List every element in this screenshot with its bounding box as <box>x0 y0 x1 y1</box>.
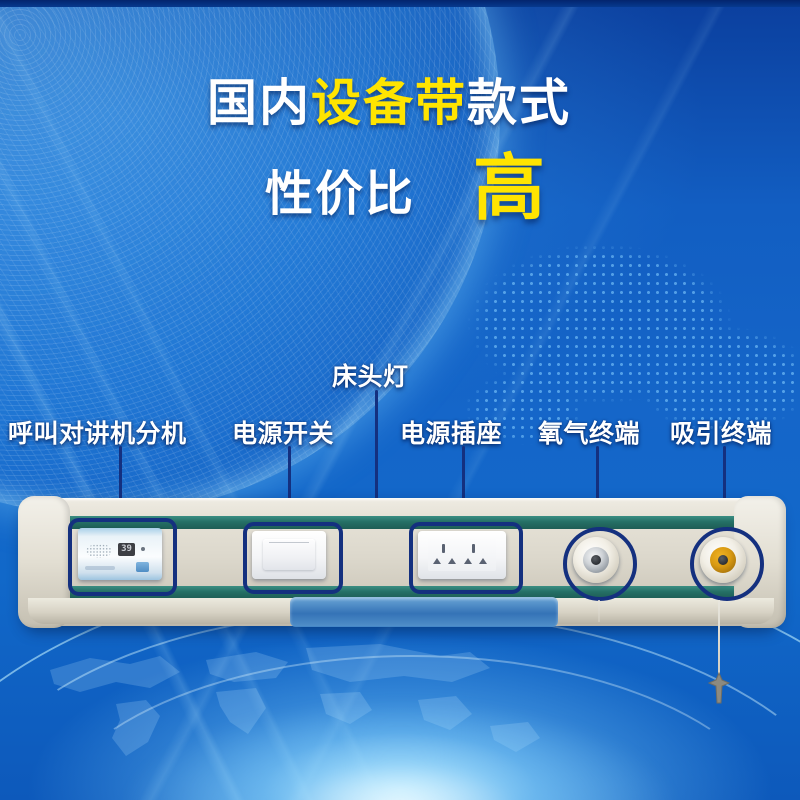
highlight-circle-suction <box>690 527 764 601</box>
highlight-circle-oxygen <box>563 527 637 601</box>
bottom-glow <box>120 700 680 800</box>
highlight-box-power-switch <box>243 522 343 594</box>
cord-pull-handle-icon[interactable] <box>706 672 732 706</box>
highlight-box-power-socket <box>409 522 523 594</box>
callout-power-switch-label: 电源开关 <box>232 414 334 450</box>
highlight-box-intercom <box>68 518 177 596</box>
panel-blue-rail <box>290 597 558 627</box>
product-banner: 国内设备带款式 性价比 高 呼叫对讲机分机 电源开关 床头灯 电源插座 氧气终端… <box>0 0 800 800</box>
top-strip <box>0 0 800 7</box>
pull-cord-secondary <box>598 600 600 622</box>
callout-oxygen-label: 氧气终端 <box>538 414 640 450</box>
callout-intercom-label: 呼叫对讲机分机 <box>8 414 187 450</box>
callout-suction-label: 吸引终端 <box>670 414 772 450</box>
callout-bed-lamp-label: 床头灯 <box>332 357 409 393</box>
callout-power-socket-label: 电源插座 <box>400 414 502 450</box>
